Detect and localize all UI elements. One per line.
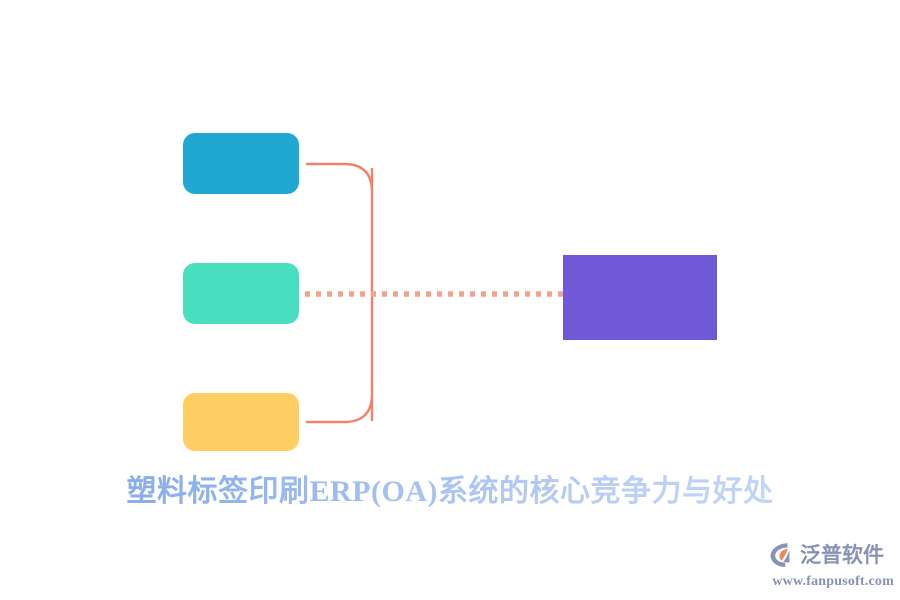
diagram-canvas: 塑料标签印刷ERP(OA)系统的核心竞争力与好处 泛普软件 www.fanpus… <box>0 0 900 600</box>
diagram-node-green[interactable] <box>183 263 299 324</box>
diagram-node-purple[interactable] <box>563 255 717 340</box>
watermark-url: www.fanpusoft.com <box>766 573 894 591</box>
connector-blue-to-spine <box>307 164 372 190</box>
diagram-node-blue[interactable] <box>183 133 299 194</box>
diagram-node-yellow[interactable] <box>183 393 299 451</box>
watermark: 泛普软件 www.fanpusoft.com <box>766 538 894 594</box>
fanpu-logo-icon <box>766 540 796 570</box>
connector-layer <box>0 0 900 600</box>
watermark-brand: 泛普软件 <box>800 540 884 570</box>
connector-yellow-to-spine <box>307 396 372 422</box>
watermark-row: 泛普软件 <box>766 538 894 572</box>
page-title: 塑料标签印刷ERP(OA)系统的核心竞争力与好处 <box>0 466 900 510</box>
